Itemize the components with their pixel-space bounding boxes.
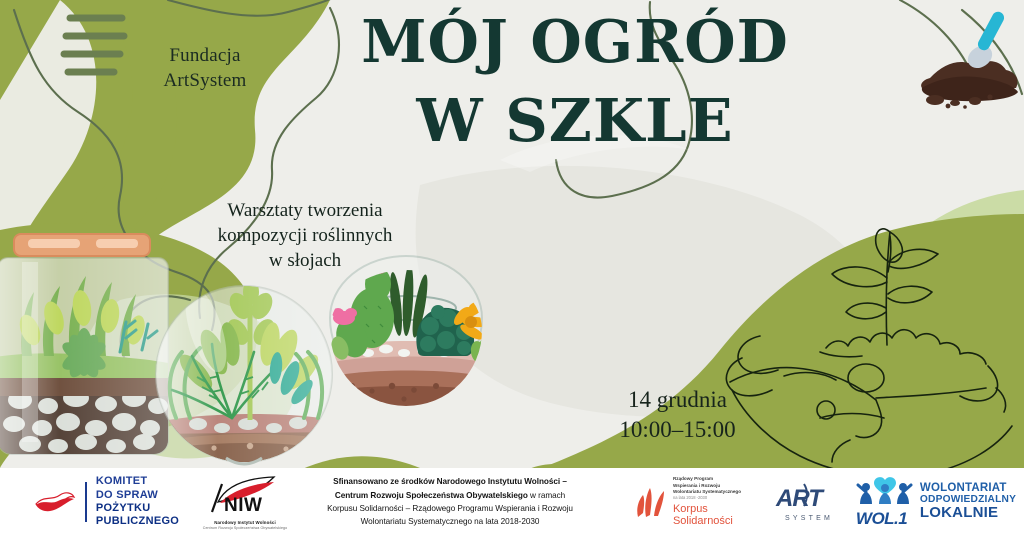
wol-line-3: LOKALNIE	[920, 505, 1016, 521]
niw-mark-icon: NIW	[202, 474, 288, 514]
ks-top-4: na lata 2018 -2030	[673, 495, 741, 501]
logo-kdsp: KOMITET DO SPRAW POŻYTKU PUBLICZNEGO	[0, 468, 195, 536]
funding-line-3: Korpusu Solidarności – Rządowego Program…	[327, 502, 573, 515]
niw-sub-1: Narodowy Instytut Wolności	[202, 520, 288, 526]
divider	[85, 482, 87, 522]
kdsp-line-2: DO SPRAW	[96, 489, 179, 502]
logo-wolontariat: WOL.1 WOLONTARIAT ODPOWIEDZIALNY LOKALNI…	[848, 468, 1024, 536]
event-datetime: 14 grudnia 10:00–15:00	[585, 385, 770, 446]
art-system-sub: SYSTEM	[774, 515, 844, 522]
title-line-1: MÓJ OGRÓD	[361, 7, 789, 76]
korpus-hand-icon	[634, 483, 668, 521]
organizer-line-1: Fundacja	[110, 43, 300, 68]
kdsp-line-1: KOMITET	[96, 475, 179, 488]
subtitle-line-3: w słojach	[175, 248, 435, 273]
wol-mark: WOL.1	[856, 509, 914, 529]
organizer-line-2: ArtSystem	[110, 68, 300, 93]
niw-sub-2: Centrum Rozwoju Społeczeństwa Obywatelsk…	[202, 526, 288, 530]
funding-line-2-rest: w ramach	[528, 491, 565, 500]
subtitle-line-2: kompozycji roślinnych	[175, 223, 435, 248]
funding-line-4: Wolontariatu Systematycznego na lata 201…	[327, 515, 573, 528]
title-line-2: W SZKLE	[330, 93, 820, 150]
kdsp-line-3: POŻYTKU	[96, 502, 179, 515]
subtitle-line-1: Warsztaty tworzenia	[175, 198, 435, 223]
kdsp-line-4: PUBLICZNEGO	[96, 515, 179, 528]
logo-korpus-solidarnosci: Rządowy Program Wspierania i Rozwoju Wol…	[605, 468, 770, 536]
footer-logo-bar: KOMITET DO SPRAW POŻYTKU PUBLICZNEGO NIW…	[0, 468, 1024, 536]
event-date: 14 grudnia	[585, 385, 770, 415]
logo-niw: NIW Narodowy Instytut Wolności Centrum R…	[195, 468, 295, 536]
event-time: 10:00–15:00	[585, 415, 770, 445]
subtitle: Warsztaty tworzenia kompozycji roślinnyc…	[175, 198, 435, 273]
ks-name-1: Korpus	[673, 503, 741, 515]
logo-art-system: ART SYSTEM	[770, 468, 848, 536]
svg-text:ART: ART	[775, 485, 825, 512]
page-title: MÓJ OGRÓD W SZKLE	[330, 14, 820, 149]
svg-text:NIW: NIW	[224, 495, 262, 514]
wolontariat-people-icon	[856, 476, 914, 504]
polish-flag-icon	[34, 489, 76, 515]
organizer-name: Fundacja ArtSystem	[110, 43, 300, 94]
funding-line-1: Sfinansowano ze środków Narodowego Insty…	[333, 477, 567, 486]
funding-line-2: Centrum Rozwoju Społeczeństwa Obywatelsk…	[335, 491, 528, 500]
funding-statement: Sfinansowano ze środków Narodowego Insty…	[295, 468, 605, 536]
art-mark-icon: ART	[774, 482, 844, 512]
ks-name-2: Solidarności	[673, 515, 741, 527]
poster-root: Fundacja ArtSystem MÓJ OGRÓD W SZKLE War…	[0, 0, 1024, 536]
